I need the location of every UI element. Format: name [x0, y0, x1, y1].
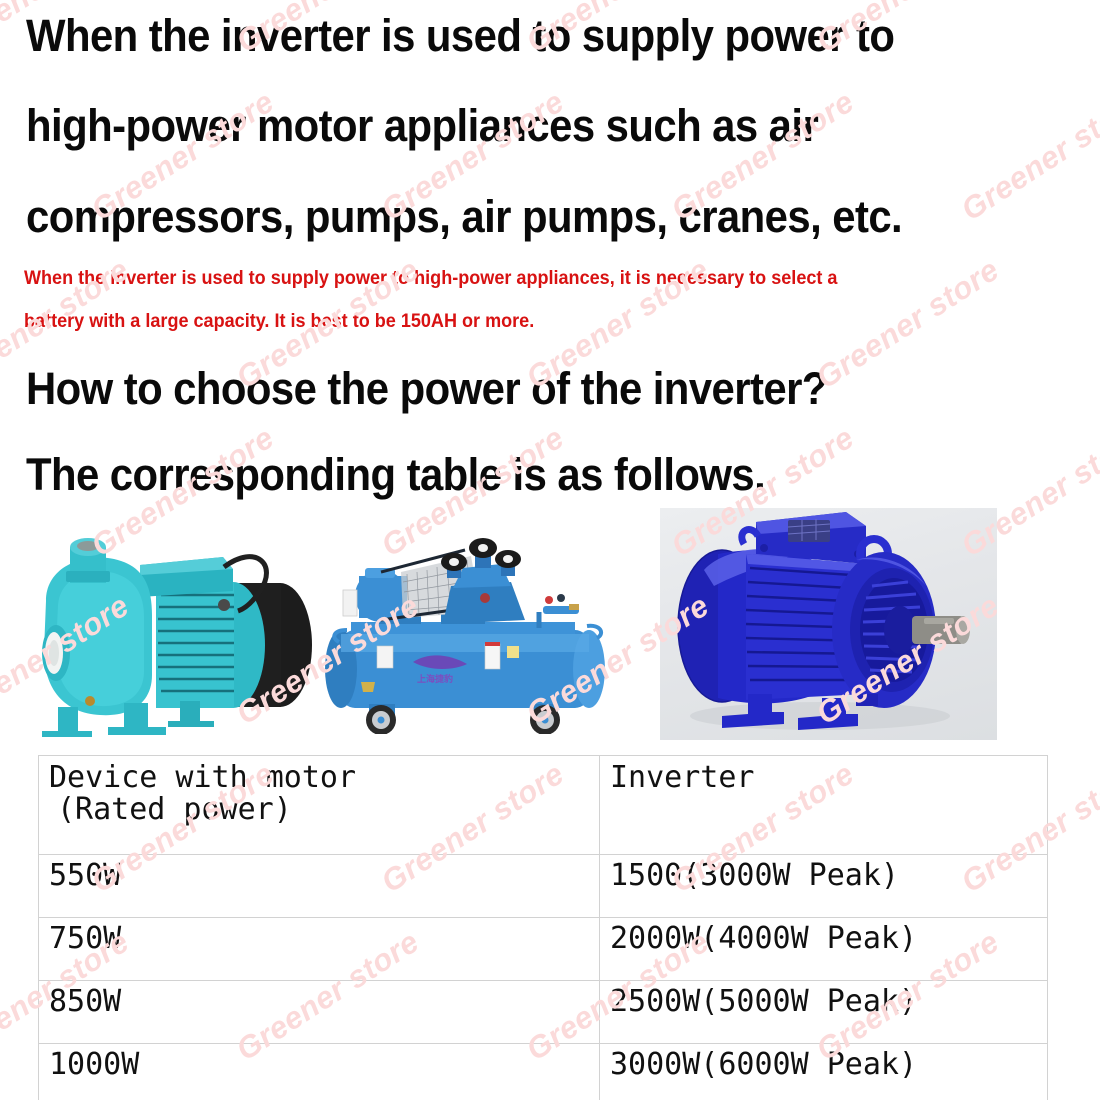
table-row: 550W 1500(3000W Peak): [39, 855, 1048, 918]
secondary-heading-line-2: The corresponding table is as follows.: [26, 452, 765, 497]
air-compressor-photo: 上海捷豹: [325, 534, 625, 734]
inverter-spec-table: Device with motor (Rated power) Inverter…: [38, 755, 1048, 1100]
header-device-line-1: Device with motor: [49, 762, 599, 794]
table-row: 750W 2000W(4000W Peak): [39, 918, 1048, 981]
svg-text:上海捷豹: 上海捷豹: [417, 673, 453, 684]
cell-inverter-power: 1500(3000W Peak): [600, 855, 1048, 918]
header-cell-device: Device with motor (Rated power): [39, 756, 600, 855]
table-row: 850W 2500W(5000W Peak): [39, 981, 1048, 1044]
main-heading-line-1: When the inverter is used to supply powe…: [26, 13, 894, 58]
cell-inverter-power: 2000W(4000W Peak): [600, 918, 1048, 981]
water-pump-photo: [28, 525, 328, 740]
cell-inverter-power: 2500W(5000W Peak): [600, 981, 1048, 1044]
main-heading-line-2: high-power motor appliances such as air: [26, 103, 818, 148]
header-device-line-2: (Rated power): [49, 794, 599, 826]
watermark-text: Greener store: [810, 252, 1006, 396]
notice-line-1: When the inverter is used to supply powe…: [24, 269, 837, 288]
electric-motor-photo: [660, 508, 997, 740]
secondary-heading-line-1: How to choose the power of the inverter?: [26, 366, 827, 411]
header-inverter-line-1: Inverter: [610, 762, 1047, 794]
main-heading-line-3: compressors, pumps, air pumps, cranes, e…: [26, 194, 902, 239]
table-header-row: Device with motor (Rated power) Inverter: [39, 756, 1048, 855]
cell-device-power: 750W: [39, 918, 600, 981]
watermark-text: Greener store: [955, 84, 1100, 228]
cell-device-power: 1000W: [39, 1044, 600, 1100]
table-row: 1000W 3000W(6000W Peak): [39, 1044, 1048, 1100]
header-cell-inverter: Inverter: [600, 756, 1048, 855]
product-image-row: 上海捷豹: [0, 500, 1100, 750]
notice-line-2: battery with a large capacity. It is bes…: [24, 312, 534, 331]
cell-device-power: 550W: [39, 855, 600, 918]
product-description-page: 上海捷豹: [0, 0, 1100, 1100]
cell-inverter-power: 3000W(6000W Peak): [600, 1044, 1048, 1100]
cell-device-power: 850W: [39, 981, 600, 1044]
